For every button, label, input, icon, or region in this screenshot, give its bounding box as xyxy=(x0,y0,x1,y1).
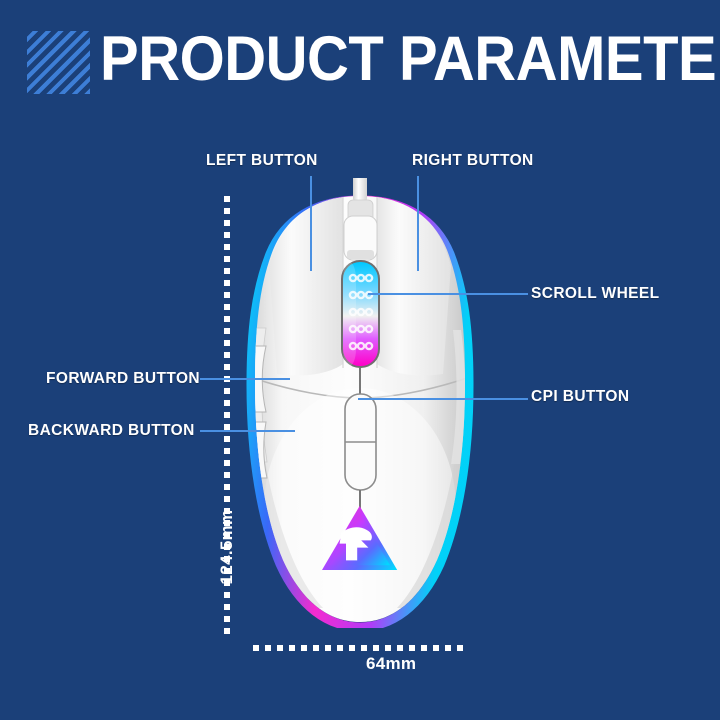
leader-line-backward-button xyxy=(200,430,295,432)
leader-line-scroll-wheel xyxy=(368,293,528,295)
leader-line-right-button xyxy=(417,176,419,271)
callout-label-forward-button: FORWARD BUTTON xyxy=(46,370,200,388)
leader-line-left-button xyxy=(310,176,312,271)
width-dimension-label: 64mm xyxy=(366,654,416,674)
leader-line-forward-button xyxy=(200,378,290,380)
callout-label-cpi-button: CPI BUTTON xyxy=(531,388,629,406)
left-button-surface xyxy=(269,192,343,376)
page-title: PRODUCT PARAMETER xyxy=(100,17,652,101)
gaming-mouse-illustration xyxy=(233,178,488,628)
leader-line-cpi-button xyxy=(358,398,528,400)
callout-label-scroll-wheel: SCROLL WHEEL xyxy=(531,285,660,303)
width-dimension-line xyxy=(253,645,466,651)
callout-label-left-button: LEFT BUTTON xyxy=(206,152,318,170)
callout-label-right-button: RIGHT BUTTON xyxy=(412,152,534,170)
callout-label-backward-button: BACKWARD BUTTON xyxy=(28,422,195,440)
header: PRODUCT PARAMETER xyxy=(0,0,720,112)
right-button-surface xyxy=(377,192,451,376)
usb-cable xyxy=(344,178,377,260)
height-dimension-label: 124.5mm xyxy=(217,497,237,597)
scroll-wheel xyxy=(341,260,380,368)
product-parameter-infographic: PRODUCT PARAMETER xyxy=(0,0,720,720)
diagonal-stripes-icon xyxy=(27,31,90,94)
